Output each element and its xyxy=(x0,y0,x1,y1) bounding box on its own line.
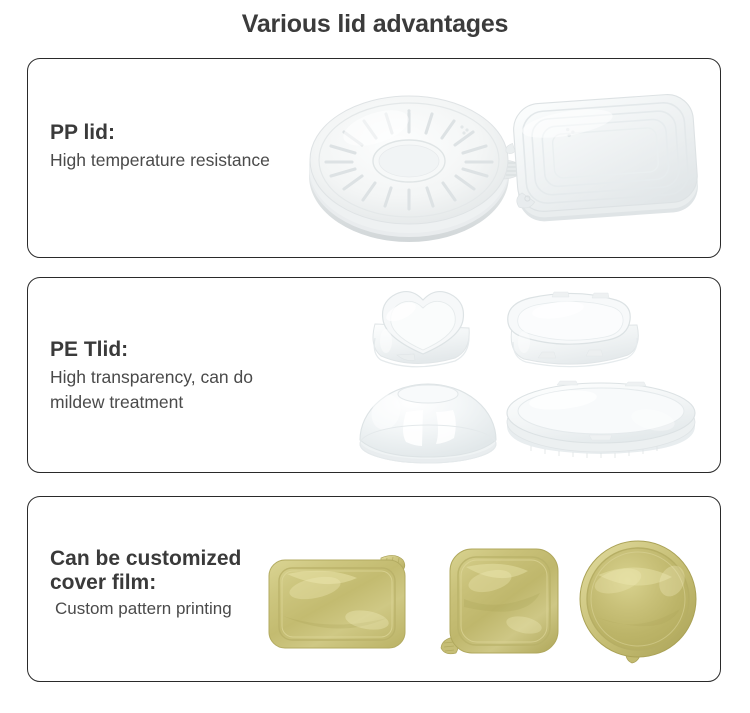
heart-shaped-pe-lid xyxy=(353,286,493,381)
card-pe-text: PE Tlid: High transparency, can do milde… xyxy=(50,338,253,415)
card-pp-description: High temperature resistance xyxy=(50,148,270,173)
card-cover-film-title: Can be customized cover film: xyxy=(50,547,241,594)
oval-pe-lid xyxy=(501,380,701,462)
square-pe-lid xyxy=(500,286,645,374)
card-cover-film-text: Can be customized cover film: Custom pat… xyxy=(50,547,241,622)
round-pp-lid xyxy=(306,72,521,247)
rectangular-pp-lid xyxy=(498,79,713,244)
round-gold-cover-film xyxy=(568,537,718,669)
dome-pe-lid xyxy=(356,376,501,468)
card-pp-title: PP lid: xyxy=(50,121,270,145)
card-pp-text: PP lid: High temperature resistance xyxy=(50,121,270,173)
card-pe-title: PE Tlid: xyxy=(50,338,253,362)
card-cover-film: Can be customized cover film: Custom pat… xyxy=(27,496,721,682)
page-title: Various lid advantages xyxy=(0,10,750,39)
card-pe-lid: PE Tlid: High transparency, can do milde… xyxy=(27,277,721,473)
card-pe-description: High transparency, can do mildew treatme… xyxy=(50,365,253,416)
card-pp-lid: PP lid: High temperature resistance xyxy=(27,58,721,258)
rectangular-gold-cover-film xyxy=(263,544,423,656)
square-gold-cover-film xyxy=(436,541,576,667)
card-cover-film-description: Custom pattern printing xyxy=(50,597,241,622)
